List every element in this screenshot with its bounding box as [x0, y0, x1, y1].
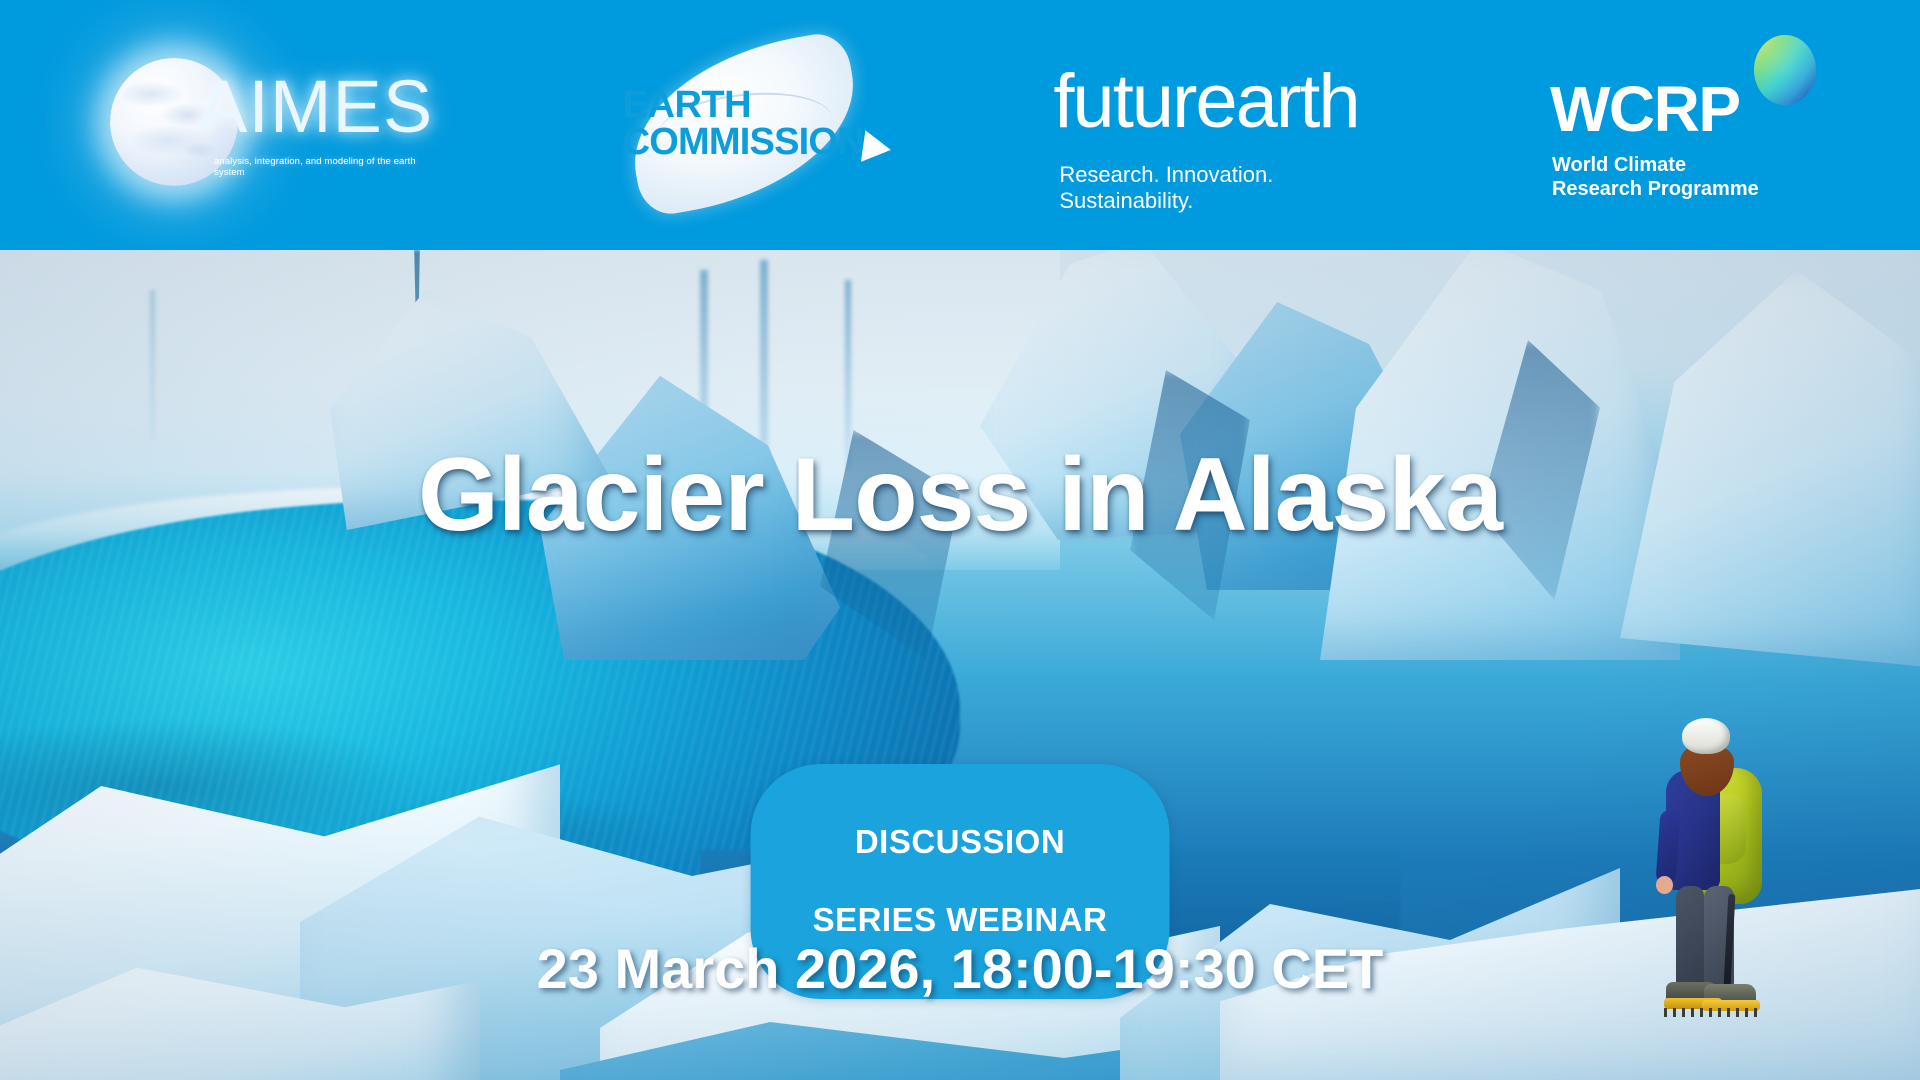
earth-commission-line1: EARTH [623, 88, 887, 123]
ice-streak [150, 290, 155, 440]
event-datetime: 23 March 2026, 18:00-19:30 CET [0, 936, 1920, 1001]
logo-wcrp[interactable]: WCRP World Climate Research Programme [1550, 35, 1810, 215]
badge-line-2: SERIES WEBINAR [813, 901, 1108, 940]
aimes-tagline: analysis, integration, and modeling of t… [214, 156, 444, 178]
wcrp-wordmark: WCRP [1550, 77, 1740, 141]
logo-future-earth[interactable]: futurearth Research. Innovation. Sustain… [1053, 40, 1383, 210]
earth-commission-line2: COMMISSION [623, 125, 887, 160]
wcrp-subtitle-line1: World Climate [1552, 153, 1759, 177]
crampon-spikes [1664, 1008, 1760, 1017]
wcrp-subtitle-line2: Research Programme [1552, 177, 1759, 201]
climber-hand [1656, 876, 1673, 894]
climber-helmet [1682, 718, 1730, 754]
badge-line-1: DISCUSSION [813, 823, 1108, 862]
aimes-wordmark: AIMES [198, 70, 433, 144]
logo-aimes[interactable]: AIMES analysis, integration, and modelin… [110, 40, 450, 210]
partner-logo-bar: AIMES analysis, integration, and modelin… [0, 0, 1920, 250]
gradient-sphere-icon [1754, 35, 1816, 105]
future-earth-wordmark: futurearth [1053, 64, 1358, 140]
page-title: Glacier Loss in Alaska [0, 436, 1920, 555]
future-earth-tagline: Research. Innovation. Sustainability. [1059, 162, 1383, 214]
wcrp-subtitle: World Climate Research Programme [1552, 153, 1759, 202]
webinar-poster: AIMES analysis, integration, and modelin… [0, 0, 1920, 1080]
logo-earth-commission[interactable]: EARTH COMMISSION [617, 40, 887, 210]
earth-commission-wordmark: EARTH COMMISSION [623, 88, 887, 160]
